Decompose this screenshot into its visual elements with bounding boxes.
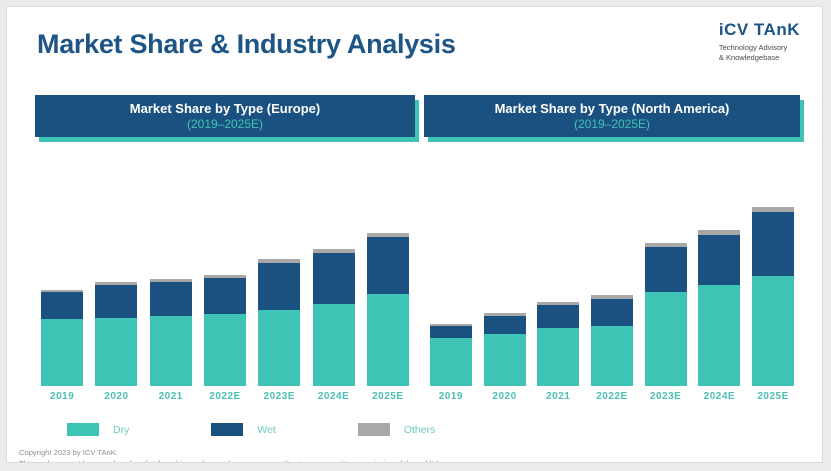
bar-segment-wet — [752, 212, 794, 276]
panel-header-north-america: Market Share by Type (North America) (20… — [424, 95, 800, 137]
bar-group — [313, 182, 355, 386]
logo-tagline-line-2: & Knowledgebase — [719, 53, 800, 63]
x-axis-label: 2024E — [698, 391, 740, 411]
bar-segment-dry — [150, 316, 192, 386]
bar-container — [35, 182, 415, 386]
bar-group — [204, 182, 246, 386]
bar-segment-dry — [258, 310, 300, 386]
x-axis-north-america: 2019202020212022E2023E2024E2025E — [424, 391, 800, 411]
bar-segment-wet — [537, 305, 579, 328]
x-axis-label: 2020 — [484, 391, 526, 411]
bar-segment-dry — [752, 276, 794, 386]
legend-item-wet: Wet — [211, 423, 275, 436]
legend-label: Wet — [257, 424, 275, 436]
bar-segment-dry — [204, 314, 246, 386]
panel-title-europe: Market Share by Type (Europe) — [130, 101, 320, 117]
footer-copyright: Copyright 2023 by ICV TAnK. This work ma… — [19, 447, 450, 463]
bar-segment-dry — [645, 292, 687, 386]
bar-group — [645, 182, 687, 386]
bar-segment-wet — [95, 285, 137, 318]
chart-north-america — [424, 182, 800, 386]
bar-segment-wet — [204, 278, 246, 314]
legend-swatch-others — [358, 423, 390, 436]
bar-segment-dry — [41, 319, 83, 386]
logo-tagline-line-1: Technology Advisory — [719, 43, 800, 53]
bar-segment-dry — [484, 334, 526, 386]
bar-group — [258, 182, 300, 386]
x-axis-label: 2025E — [752, 391, 794, 411]
bar-group — [484, 182, 526, 386]
bar-segment-dry — [430, 338, 472, 386]
panel-title-north-america: Market Share by Type (North America) — [495, 101, 730, 117]
x-axis-label: 2019 — [430, 391, 472, 411]
bar-segment-dry — [367, 294, 409, 386]
x-axis-label: 2023E — [258, 391, 300, 411]
x-axis-label: 2025E — [367, 391, 409, 411]
x-axis-label: 2021 — [150, 391, 192, 411]
footer-line-2: This work may not be reproduced or distr… — [19, 458, 450, 463]
bar-segment-wet — [698, 235, 740, 285]
panel-header-europe: Market Share by Type (Europe) (2019–2025… — [35, 95, 415, 137]
bar-container — [424, 182, 800, 386]
bar-segment-dry — [537, 328, 579, 386]
bar-group — [367, 182, 409, 386]
x-axis-label: 2022E — [591, 391, 633, 411]
slide-canvas: Market Share & Industry Analysis iCV TAn… — [6, 6, 823, 463]
x-axis-label: 2021 — [537, 391, 579, 411]
panel-header-box: Market Share by Type (Europe) (2019–2025… — [35, 95, 415, 137]
x-axis-label: 2022E — [204, 391, 246, 411]
chart-legend: DryWetOthers — [67, 423, 517, 436]
panel-header-box: Market Share by Type (North America) (20… — [424, 95, 800, 137]
bar-group — [752, 182, 794, 386]
bar-segment-wet — [591, 299, 633, 326]
footer-line-1: Copyright 2023 by ICV TAnK. — [19, 447, 450, 458]
x-axis-europe: 2019202020212022E2023E2024E2025E — [35, 391, 415, 411]
bar-segment-wet — [41, 292, 83, 319]
x-axis-label: 2023E — [645, 391, 687, 411]
bar-group — [41, 182, 83, 386]
bar-segment-wet — [313, 253, 355, 304]
x-axis-label: 2019 — [41, 391, 83, 411]
bar-segment-dry — [698, 285, 740, 386]
bar-group — [150, 182, 192, 386]
legend-swatch-wet — [211, 423, 243, 436]
bar-segment-wet — [367, 237, 409, 294]
bar-segment-wet — [430, 326, 472, 338]
bar-segment-dry — [313, 304, 355, 386]
page-title: Market Share & Industry Analysis — [37, 29, 456, 60]
bar-segment-wet — [150, 282, 192, 316]
bar-group — [698, 182, 740, 386]
legend-item-dry: Dry — [67, 423, 129, 436]
brand-logo: iCV TAnK Technology Advisory & Knowledge… — [719, 21, 800, 63]
legend-item-others: Others — [358, 423, 436, 436]
legend-label: Dry — [113, 424, 129, 436]
logo-tagline: Technology Advisory & Knowledgebase — [719, 43, 800, 63]
bar-group — [95, 182, 137, 386]
legend-swatch-dry — [67, 423, 99, 436]
bar-segment-dry — [95, 318, 137, 386]
bar-segment-dry — [591, 326, 633, 386]
bar-group — [591, 182, 633, 386]
panel-subtitle-north-america: (2019–2025E) — [574, 117, 650, 131]
logo-wordmark: iCV TAnK — [719, 21, 800, 40]
bar-group — [430, 182, 472, 386]
bar-segment-wet — [258, 263, 300, 310]
bar-segment-wet — [645, 247, 687, 292]
x-axis-label: 2020 — [95, 391, 137, 411]
panel-subtitle-europe: (2019–2025E) — [187, 117, 263, 131]
bar-segment-wet — [484, 316, 526, 334]
legend-label: Others — [404, 424, 436, 436]
chart-europe — [35, 182, 415, 386]
x-axis-label: 2024E — [313, 391, 355, 411]
bar-group — [537, 182, 579, 386]
